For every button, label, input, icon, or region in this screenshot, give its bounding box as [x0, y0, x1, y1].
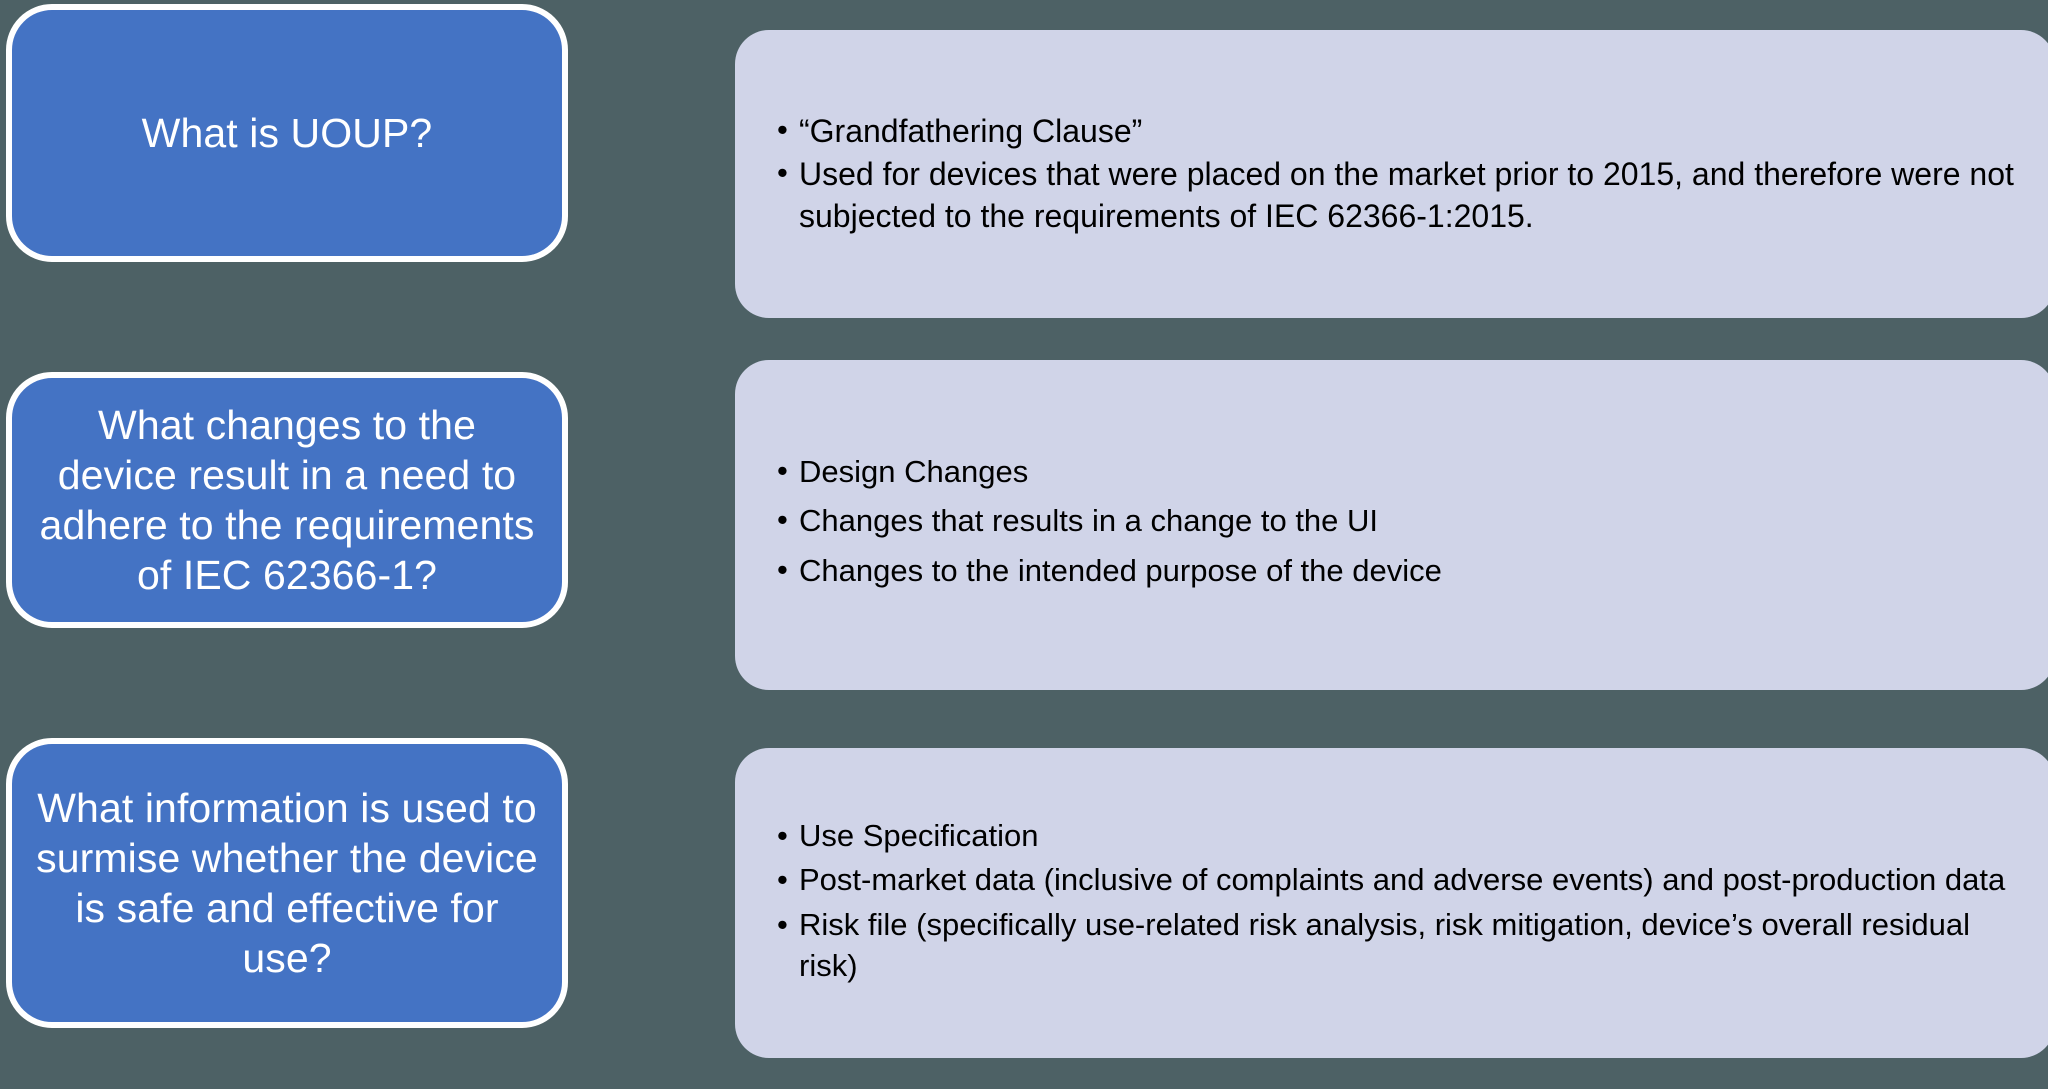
list-item-text: “Grandfathering Clause” — [799, 113, 1142, 149]
answer-bullet-list-1: •“Grandfathering Clause” •Used for devic… — [777, 110, 2021, 239]
bullet-icon: • — [777, 110, 788, 150]
answer-panel-1[interactable]: •“Grandfathering Clause” •Used for devic… — [735, 30, 2048, 318]
answer-bullet-list-2: •Design Changes •Changes that results in… — [777, 451, 2021, 599]
bullet-icon: • — [777, 451, 788, 491]
list-item: •Risk file (specifically use-related ris… — [777, 905, 2021, 986]
bullet-icon: • — [777, 550, 788, 590]
bullet-icon: • — [777, 816, 788, 856]
list-item: •“Grandfathering Clause” — [777, 110, 2021, 152]
diagram-row-2: What changes to the device result in a n… — [0, 360, 2048, 728]
answer-panel-2[interactable]: •Design Changes •Changes that results in… — [735, 360, 2048, 690]
bullet-icon: • — [777, 860, 788, 900]
smartart-diagram: What is UOUP? •“Grandfathering Clause” •… — [0, 0, 2048, 1089]
answer-panel-3[interactable]: •Use Specification •Post-market data (in… — [735, 748, 2048, 1058]
list-item: •Used for devices that were placed on th… — [777, 153, 2021, 237]
bullet-icon: • — [777, 153, 788, 193]
list-item-text: Changes that results in a change to the … — [799, 503, 1378, 538]
question-label-3: What information is used to surmise whet… — [34, 783, 540, 983]
list-item: •Post-market data (inclusive of complain… — [777, 860, 2021, 901]
diagram-row-3: What information is used to surmise whet… — [0, 728, 2048, 1089]
list-item: •Changes that results in a change to the… — [777, 500, 2021, 541]
question-box-3[interactable]: What information is used to surmise whet… — [6, 738, 568, 1028]
list-item: •Use Specification — [777, 816, 2021, 857]
question-box-2[interactable]: What changes to the device result in a n… — [6, 372, 568, 628]
answer-bullet-list-3: •Use Specification •Post-market data (in… — [777, 816, 2021, 990]
list-item-text: Use Specification — [799, 818, 1039, 853]
list-item: •Design Changes — [777, 451, 2021, 492]
list-item-text: Risk file (specifically use-related risk… — [799, 907, 1970, 983]
list-item-text: Post-market data (inclusive of complaint… — [799, 862, 2005, 897]
list-item: •Changes to the intended purpose of the … — [777, 550, 2021, 591]
bullet-icon: • — [777, 500, 788, 540]
diagram-row-1: What is UOUP? •“Grandfathering Clause” •… — [0, 0, 2048, 360]
question-box-1[interactable]: What is UOUP? — [6, 4, 568, 262]
question-label-1: What is UOUP? — [142, 108, 433, 158]
list-item-text: Changes to the intended purpose of the d… — [799, 553, 1442, 588]
bullet-icon: • — [777, 905, 788, 945]
question-label-2: What changes to the device result in a n… — [34, 400, 540, 600]
list-item-text: Used for devices that were placed on the… — [799, 156, 2014, 234]
list-item-text: Design Changes — [799, 454, 1028, 489]
